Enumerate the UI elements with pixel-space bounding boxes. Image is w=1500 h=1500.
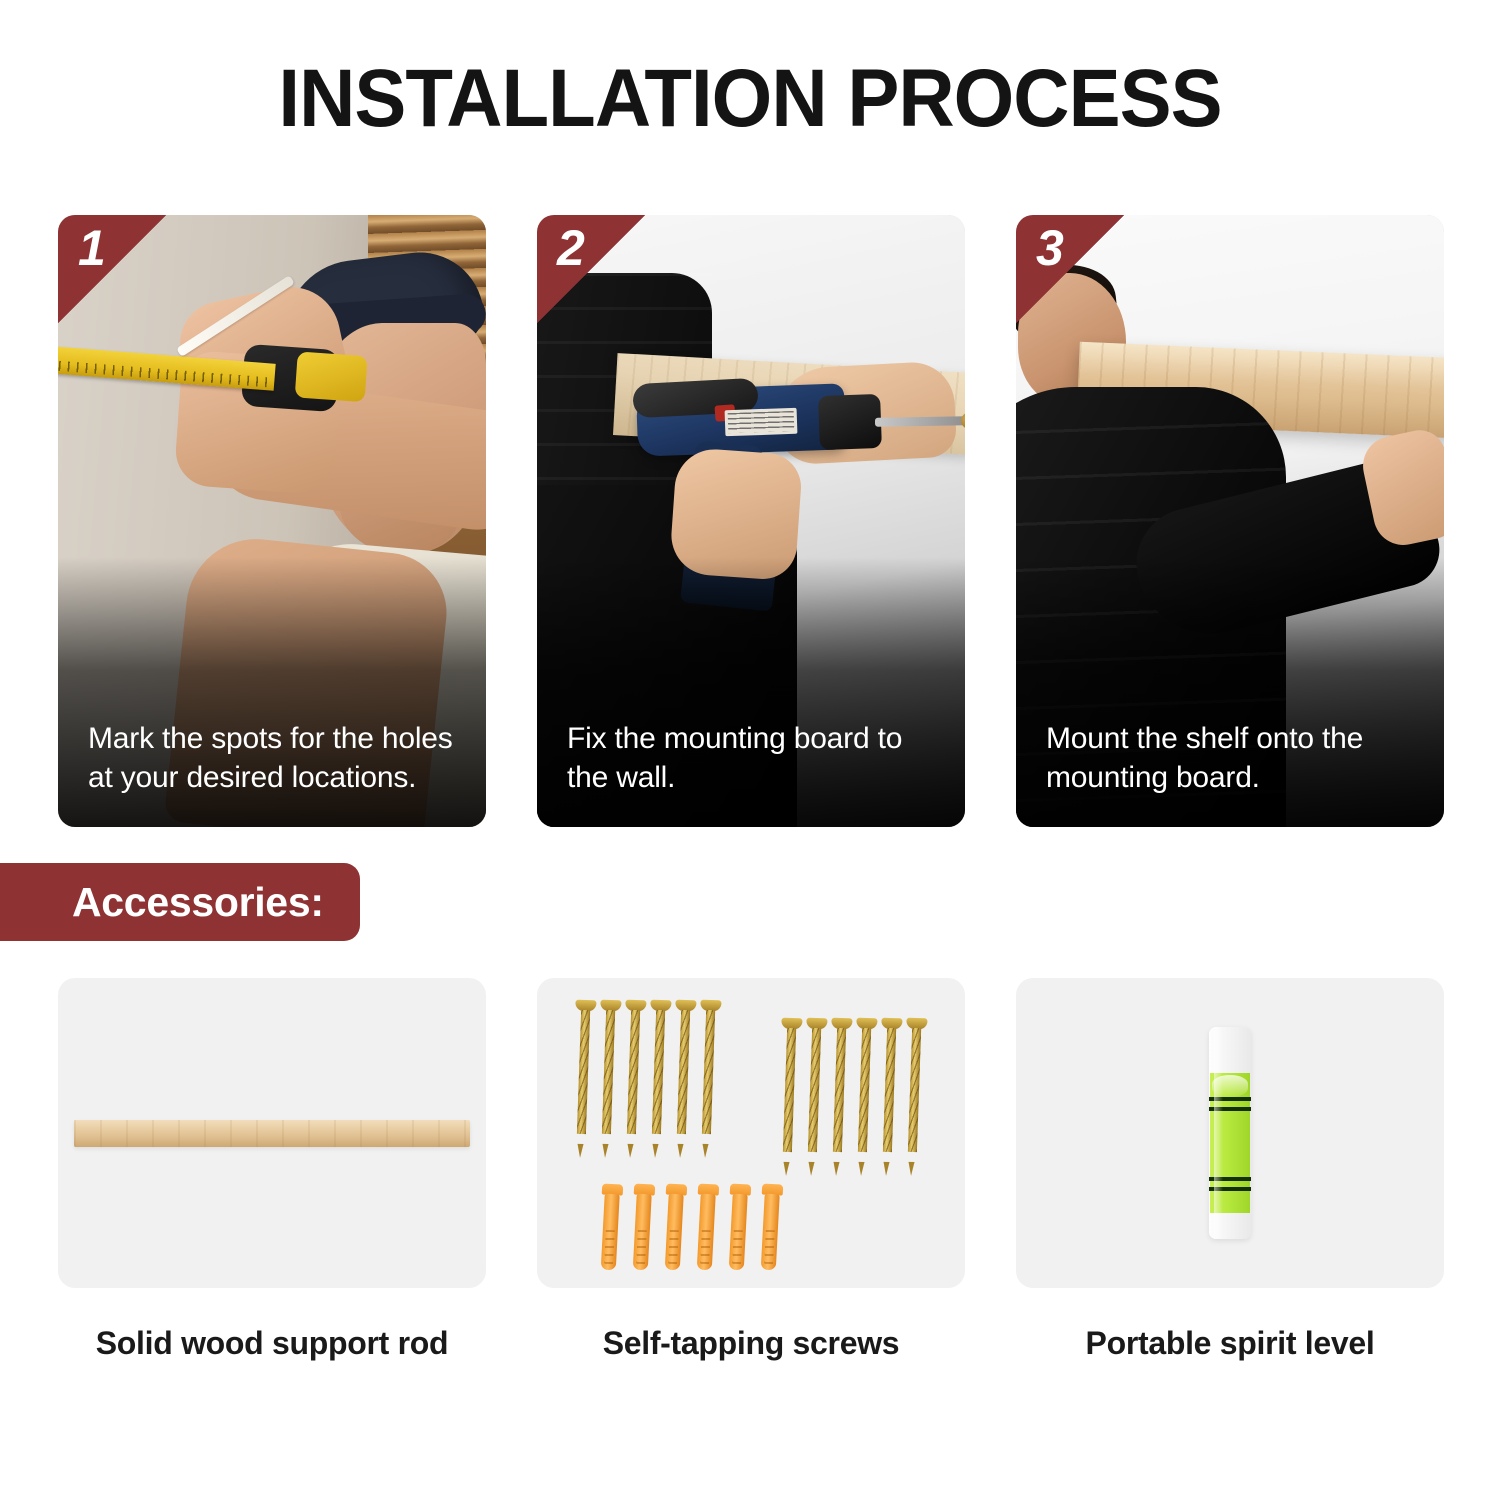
accessory-label-rod: Solid wood support rod — [58, 1325, 486, 1362]
wall-plug-icon — [761, 1184, 780, 1271]
wall-plug-icon — [633, 1184, 652, 1271]
steps-row: 1 Mark the spots for the holes at your d… — [58, 215, 1444, 827]
screw-icon — [626, 1000, 640, 1146]
accessory-panel-rod[interactable] — [58, 978, 486, 1288]
screw-icon — [676, 1000, 690, 1146]
screw-icon — [576, 1000, 590, 1146]
step-card-3[interactable]: 3 Mount the shelf onto the mounting boar… — [1016, 215, 1444, 827]
screw-group-left — [579, 1000, 713, 1146]
drill-chuck — [818, 394, 882, 450]
step-ribbon-2 — [537, 215, 645, 323]
screw-icon — [882, 1018, 896, 1164]
accessory-panel-screws[interactable] — [537, 978, 965, 1288]
step-number-2: 2 — [557, 223, 585, 273]
accessory-captions-row: Solid wood support rod Self-tapping scre… — [58, 1325, 1444, 1362]
drill-spec-label — [725, 408, 798, 436]
spirit-level-image — [1209, 1027, 1251, 1239]
wall-plug-icon — [697, 1184, 716, 1271]
screw-icon — [807, 1018, 821, 1164]
accessory-label-screws: Self-tapping screws — [537, 1325, 965, 1362]
accessories-row — [58, 978, 1444, 1288]
drill-bit — [875, 416, 965, 427]
step-card-1[interactable]: 1 Mark the spots for the holes at your d… — [58, 215, 486, 827]
screw-icon — [782, 1018, 796, 1164]
wall-plug-group — [603, 1184, 778, 1270]
step-number-1: 1 — [78, 223, 106, 273]
step-caption-1: Mark the spots for the holes at your des… — [88, 720, 462, 797]
step-ribbon-1 — [58, 215, 166, 323]
wall-plug-icon — [601, 1184, 620, 1271]
wall-plug-icon — [729, 1184, 748, 1271]
screw-icon — [701, 1000, 715, 1146]
installation-process-page: INSTALLATION PROCESS — [0, 0, 1500, 1500]
wall-plug-icon — [665, 1184, 684, 1271]
accessories-heading-badge: Accessories: — [0, 863, 360, 941]
accessory-label-level: Portable spirit level — [1016, 1325, 1444, 1362]
screw-icon — [601, 1000, 615, 1146]
accessory-panel-level[interactable] — [1016, 978, 1444, 1288]
page-title: INSTALLATION PROCESS — [38, 52, 1463, 146]
screw-icon — [907, 1018, 921, 1164]
step-number-3: 3 — [1036, 223, 1064, 273]
screw-icon — [651, 1000, 665, 1146]
step-caption-3: Mount the shelf onto the mounting board. — [1046, 720, 1420, 797]
screw-group-right — [785, 1018, 919, 1164]
wooden-rod-image — [74, 1120, 470, 1147]
step-ribbon-3 — [1016, 215, 1124, 323]
screw-icon — [857, 1018, 871, 1164]
screw-icon — [832, 1018, 846, 1164]
step-card-2[interactable]: 2 Fix the mounting board to the wall. — [537, 215, 965, 827]
step-caption-2: Fix the mounting board to the wall. — [567, 720, 941, 797]
